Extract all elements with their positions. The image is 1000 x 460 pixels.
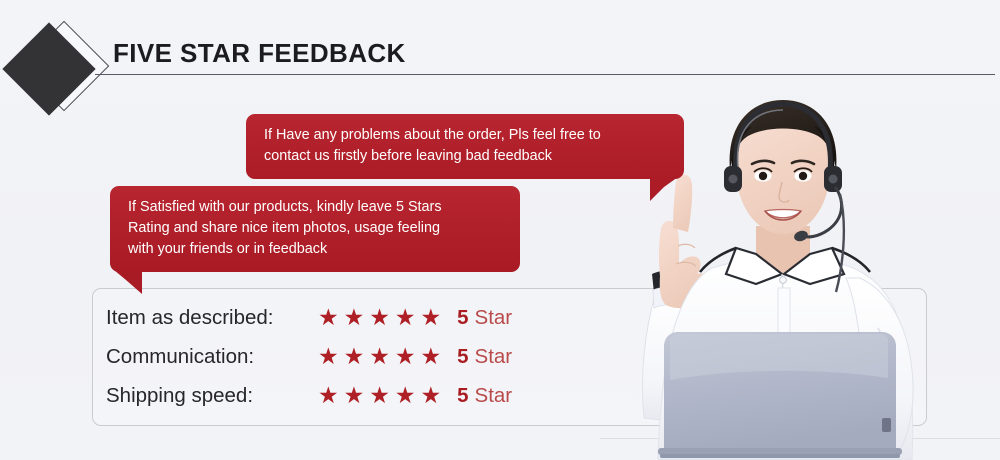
rating-score: 5 (457, 384, 468, 408)
rating-label: Item as described: (106, 306, 318, 330)
star-icon: ★ (369, 384, 390, 407)
header-divider (95, 74, 995, 75)
star-icon: ★ (318, 384, 339, 407)
rating-label: Shipping speed: (106, 384, 318, 408)
star-icon: ★ (421, 345, 442, 368)
ratings-list: Item as described: ★ ★ ★ ★ ★ 5 Star Comm… (106, 298, 512, 415)
rating-label: Communication: (106, 345, 318, 369)
star-rating-icons: ★ ★ ★ ★ ★ (318, 345, 441, 368)
speech-bubble-order-problems: If Have any problems about the order, Pl… (246, 114, 684, 179)
feedback-banner: FIVE STAR FEEDBACK If Have any problems … (0, 0, 1000, 460)
star-icon: ★ (369, 306, 390, 329)
rating-score-unit: Star (475, 306, 513, 330)
rating-score-unit: Star (475, 345, 513, 369)
star-icon: ★ (395, 384, 416, 407)
star-icon: ★ (318, 306, 339, 329)
star-icon: ★ (369, 345, 390, 368)
rating-row: Item as described: ★ ★ ★ ★ ★ 5 Star (106, 298, 512, 337)
speech-bubble-satisfied: If Satisfied with our products, kindly l… (110, 186, 520, 272)
rating-row: Communication: ★ ★ ★ ★ ★ 5 Star (106, 337, 512, 376)
rating-score: 5 (457, 345, 468, 369)
star-icon: ★ (395, 345, 416, 368)
diamond-solid-shape (2, 22, 95, 115)
speech-bubble-satisfied-text: If Satisfied with our products, kindly l… (128, 197, 504, 260)
star-icon: ★ (318, 345, 339, 368)
star-icon: ★ (421, 306, 442, 329)
star-icon: ★ (395, 306, 416, 329)
star-icon: ★ (344, 345, 365, 368)
rating-score-unit: Star (475, 384, 513, 408)
star-rating-icons: ★ ★ ★ ★ ★ (318, 384, 441, 407)
speech-bubble-tail-icon (114, 270, 142, 294)
star-rating-icons: ★ ★ ★ ★ ★ (318, 306, 441, 329)
star-icon: ★ (344, 384, 365, 407)
speech-bubble-tail-icon (650, 177, 678, 201)
diamond-logo-icon (6, 20, 106, 120)
rating-score: 5 (457, 306, 468, 330)
rating-row: Shipping speed: ★ ★ ★ ★ ★ 5 Star (106, 376, 512, 415)
star-icon: ★ (344, 306, 365, 329)
star-icon: ★ (421, 384, 442, 407)
speech-bubble-order-problems-text: If Have any problems about the order, Pl… (264, 125, 668, 167)
page-title: FIVE STAR FEEDBACK (113, 38, 406, 69)
